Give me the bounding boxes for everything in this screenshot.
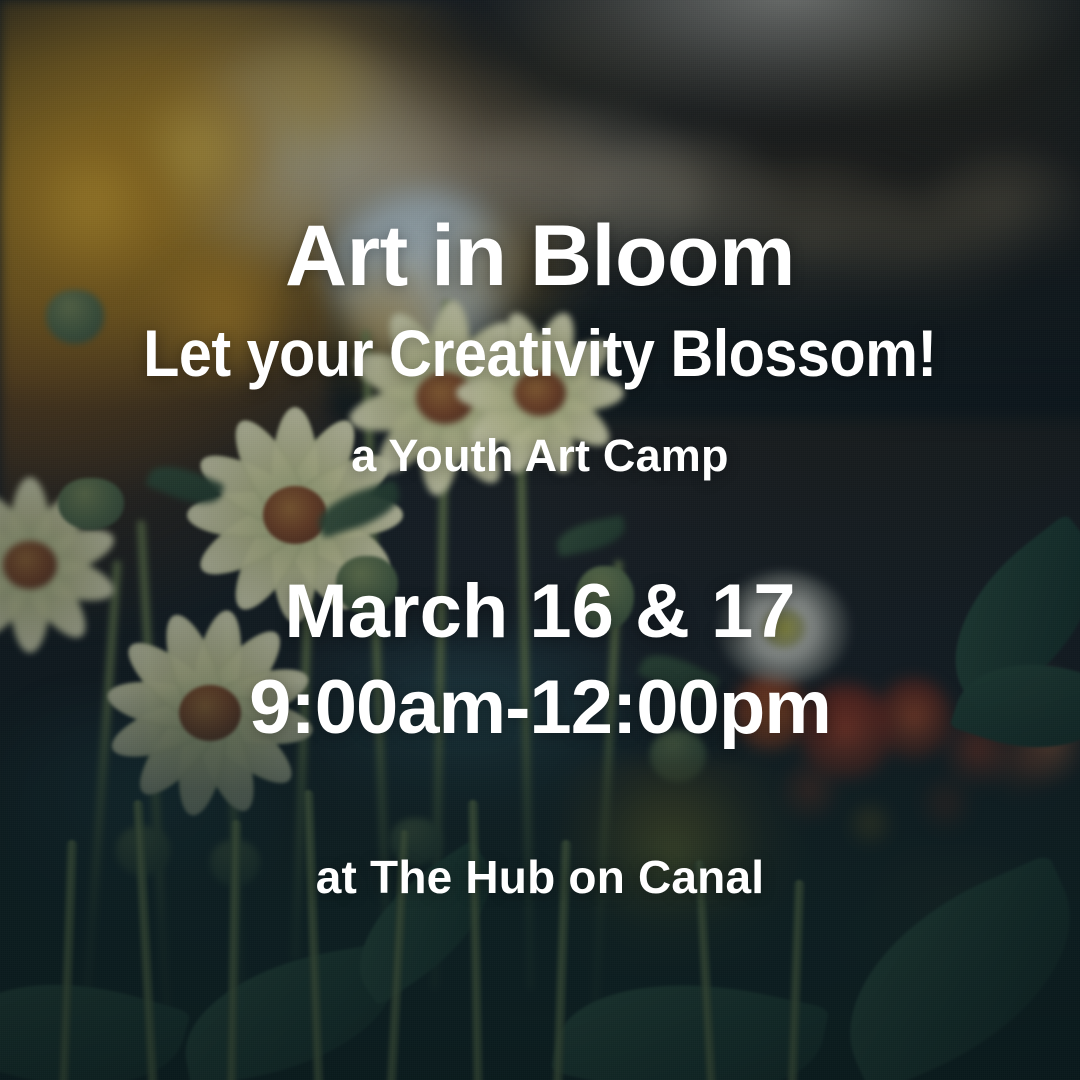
poster-title: Art in Bloom [285, 213, 795, 299]
poster-tagline: Let your Creativity Blossom! [143, 320, 937, 386]
poster-text-content: Art in Bloom Let your Creativity Blossom… [0, 0, 1080, 1080]
event-venue: at The Hub on Canal [316, 854, 764, 900]
poster-subtitle: a Youth Art Camp [351, 433, 728, 478]
event-date: March 16 & 17 [284, 574, 795, 650]
event-time: 9:00am-12:00pm [249, 670, 831, 746]
poster-canvas: Art in Bloom Let your Creativity Blossom… [0, 0, 1080, 1080]
